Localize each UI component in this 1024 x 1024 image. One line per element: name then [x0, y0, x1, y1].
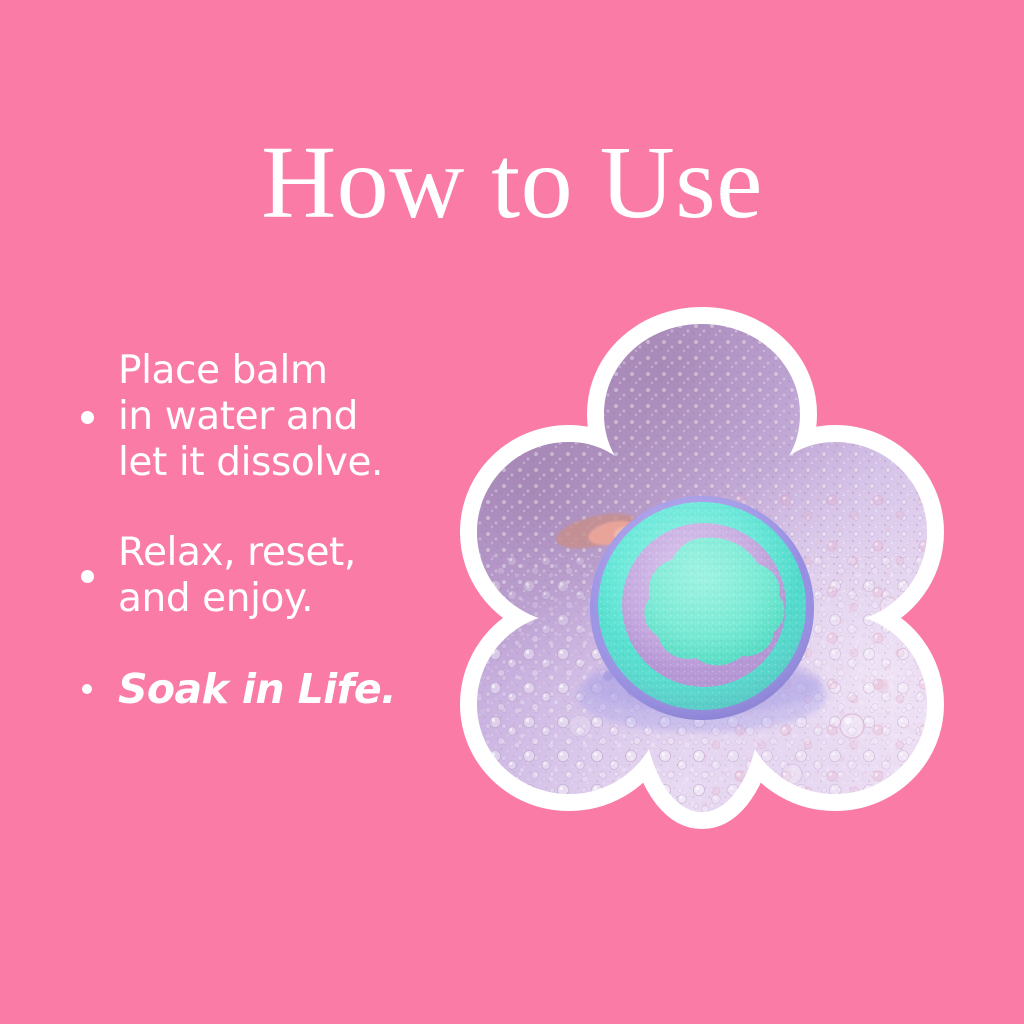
- photo-content: [452, 306, 952, 834]
- list-item-label: Soak in Life.: [118, 666, 396, 712]
- list-item: Soak in Life.: [56, 666, 436, 712]
- bath-bomb-foam-photo: [452, 306, 952, 834]
- poster-canvas: How to Use Place balm in water and let i…: [0, 0, 1024, 1024]
- bullet-marker: [56, 570, 118, 583]
- list-item-label: Place balm in water and let it dissolve.: [118, 348, 383, 486]
- list-item: Relax, reset, and enjoy.: [56, 530, 436, 622]
- instructions-list: Place balm in water and let it dissolve.…: [56, 348, 436, 712]
- bullet-dot-icon: [81, 411, 94, 424]
- page-title: How to Use: [0, 127, 1024, 239]
- list-item-label: Relax, reset, and enjoy.: [118, 530, 356, 622]
- flower-photo-frame: [452, 306, 952, 834]
- bullet-marker: [56, 411, 118, 424]
- bullet-dot-icon: [82, 684, 92, 694]
- bullet-dot-icon: [81, 570, 94, 583]
- list-item: Place balm in water and let it dissolve.: [56, 348, 436, 486]
- bullet-marker: [56, 684, 118, 694]
